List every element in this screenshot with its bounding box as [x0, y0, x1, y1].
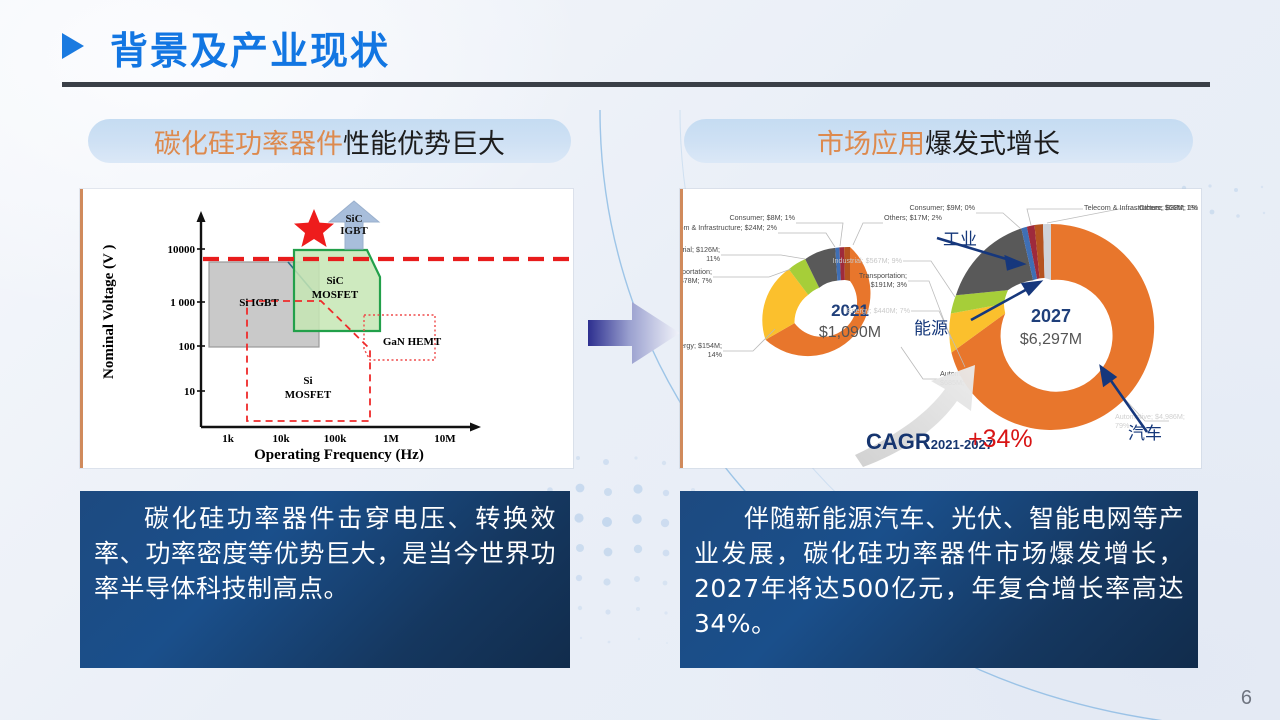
section-header-left: 碳化硅功率器件性能优势巨大 [88, 119, 571, 163]
svg-text:10k: 10k [272, 433, 290, 445]
svg-text:1 000: 1 000 [170, 297, 195, 309]
svg-text:10M: 10M [434, 433, 456, 445]
device-comparison-chart: 10000 1 000 100 10 Nominal Voltage (V ) … [83, 189, 573, 468]
svg-text:$78M; 7%: $78M; 7% [683, 276, 713, 285]
left-chart-panel: 10000 1 000 100 10 Nominal Voltage (V ) … [80, 189, 573, 468]
annotation-energy-cn: 能源 [914, 314, 948, 339]
annotation-automotive-cn: 汽车 [1128, 419, 1162, 444]
right-summary-text: 伴随新能源汽车、光伏、智能电网等产业发展，碳化硅功率器件市场爆发增长，2027年… [694, 501, 1184, 641]
svg-text:MOSFET: MOSFET [312, 289, 359, 301]
section-header-right: 市场应用爆发式增长 [684, 119, 1193, 163]
annotation-industrial-cn: 工业 [943, 225, 977, 250]
right-summary-box: 伴随新能源汽车、光伏、智能电网等产业发展，碳化硅功率器件市场爆发增长，2027年… [680, 491, 1198, 668]
svg-text:Si: Si [303, 375, 312, 387]
svg-text:1k: 1k [222, 433, 235, 445]
donut-2027-subtitle: $6,297M [1020, 331, 1082, 348]
svg-text:Operating Frequency (Hz): Operating Frequency (Hz) [254, 447, 424, 463]
svg-text:100k: 100k [324, 433, 348, 445]
label-2027-energy: Energy; $440M; 7% [847, 306, 911, 315]
page-title: 背景及产业现状 [110, 20, 390, 75]
label-2027-transportation: Transportation; [859, 271, 907, 280]
slide-header: 背景及产业现状 [0, 0, 1280, 92]
section-header-right-rest: 爆发式增长 [925, 122, 1060, 161]
donut-2021-subtitle: $1,090M [819, 324, 881, 341]
svg-text:Si IGBT: Si IGBT [239, 297, 279, 309]
svg-text:14%: 14% [708, 350, 723, 359]
svg-text:1M: 1M [383, 433, 400, 445]
label-2021-transportation: Transportation; [683, 267, 712, 276]
cagr-value: +34% [968, 425, 1033, 454]
svg-text:SiC: SiC [326, 275, 343, 287]
label-2027-industrial: Industrial; $567M; 9% [832, 256, 902, 265]
right-chart-panel: 2021 $1,090M Telecom & Infrastructure; $… [680, 189, 1201, 468]
label-2021-energy: Energy; $154M; [683, 341, 722, 350]
svg-text:10000: 10000 [168, 244, 196, 256]
svg-text:10: 10 [184, 386, 196, 398]
svg-text:MOSFET: MOSFET [285, 389, 332, 401]
triangle-right-icon [62, 33, 84, 59]
cagr-main: CAGR [866, 429, 931, 454]
svg-text:$191M; 3%: $191M; 3% [871, 280, 908, 289]
market-donut-charts: 2021 $1,090M Telecom & Infrastructure; $… [683, 189, 1201, 468]
label-2021-industrial: Industrial; $126M; [683, 245, 720, 254]
label-2027-consumer: Consumer; $9M; 0% [909, 203, 975, 212]
svg-text:GaN HEMT: GaN HEMT [383, 336, 442, 348]
section-header-left-rest: 性能优势巨大 [343, 122, 505, 161]
left-summary-text: 碳化硅功率器件击穿电压、转换效率、功率密度等优势巨大，是当今世界功率半导体科技制… [94, 501, 556, 606]
label-2027-others: Others; $66M; 1% [1139, 203, 1198, 212]
svg-text:IGBT: IGBT [340, 225, 368, 237]
page-number: 6 [1241, 687, 1252, 710]
arrow-right-icon [586, 296, 682, 370]
svg-text:SiC: SiC [345, 213, 362, 225]
label-2021-others: Others; $17M; 2% [884, 213, 943, 222]
label-2021-telecom: Telecom & Infrastructure; $24M; 2% [683, 223, 778, 232]
section-header-right-highlight: 市场应用 [817, 122, 925, 161]
label-2021-consumer: Consumer; $8M; 1% [729, 213, 795, 222]
section-header-left-highlight: 碳化硅功率器件 [154, 122, 343, 161]
left-summary-box: 碳化硅功率器件击穿电压、转换效率、功率密度等优势巨大，是当今世界功率半导体科技制… [80, 491, 570, 668]
title-divider [62, 82, 1210, 87]
slide-root: 背景及产业现状 碳化硅功率器件性能优势巨大 市场应用爆发式增长 10000 1 … [0, 0, 1280, 720]
donut-2027-title: 2027 [1031, 306, 1071, 326]
svg-text:100: 100 [179, 341, 196, 353]
svg-text:11%: 11% [706, 254, 720, 263]
svg-text:Nominal Voltage (V ): Nominal Voltage (V ) [101, 245, 117, 379]
